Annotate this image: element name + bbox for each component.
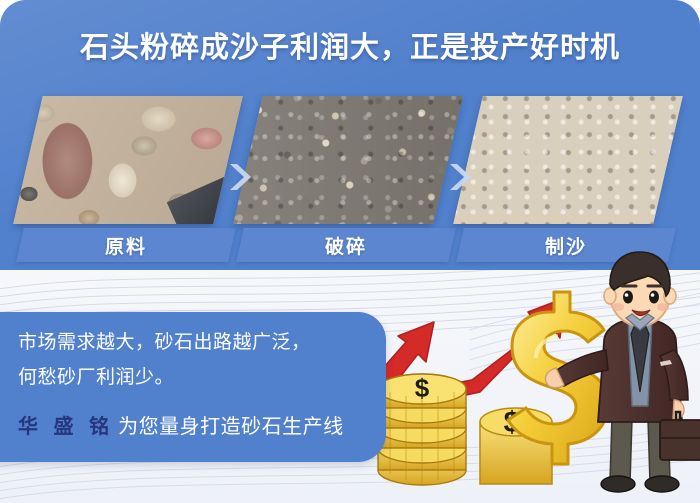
hero-panel: 石头粉碎成沙子利润大，正是投产好时机 原料 破碎 xyxy=(0,0,700,270)
process-steps: 原料 破碎 制沙 xyxy=(0,96,700,270)
copy-line-3: 华 盛 铭为您量身打造砂石生产线 xyxy=(18,410,344,439)
step-photo xyxy=(453,96,683,224)
copy-line-2: 何愁砂厂利润少。 xyxy=(18,362,174,389)
banner-stage: 石头粉碎成沙子利润大，正是投产好时机 原料 破碎 xyxy=(0,0,700,503)
finished-sand-image xyxy=(453,96,683,224)
step-label-bar: 原料 xyxy=(16,228,236,262)
gold-coin-stack-icon: $ xyxy=(378,373,466,485)
process-step-sand[interactable]: 制沙 xyxy=(468,96,680,270)
brand-tagline: 为您量身打造砂石生产线 xyxy=(118,416,344,438)
process-step-label: 原料 xyxy=(20,228,232,262)
crushed-gravel-image xyxy=(233,96,463,224)
process-step-raw[interactable]: 原料 xyxy=(28,96,240,270)
page-title: 石头粉碎成沙子利润大，正是投产好时机 xyxy=(0,24,700,66)
chevron-right-icon xyxy=(222,160,256,194)
copy-line-1: 市场需求越大，砂石出路越广泛， xyxy=(18,327,311,354)
illustration-group: $ $ xyxy=(360,250,700,503)
marketing-copy-panel: 市场需求越大，砂石出路越广泛， 何愁砂厂利润少。 华 盛 铭为您量身打造砂石生产… xyxy=(0,312,386,462)
brand-name: 华 盛 铭 xyxy=(18,416,114,438)
step-photo xyxy=(233,96,463,224)
svg-text:$: $ xyxy=(415,373,430,403)
raw-pebbles-image xyxy=(13,96,243,224)
step-photo xyxy=(13,96,243,224)
chevron-right-icon xyxy=(442,160,476,194)
briefcase-icon xyxy=(660,412,700,460)
process-step-crush[interactable]: 破碎 xyxy=(248,96,460,270)
